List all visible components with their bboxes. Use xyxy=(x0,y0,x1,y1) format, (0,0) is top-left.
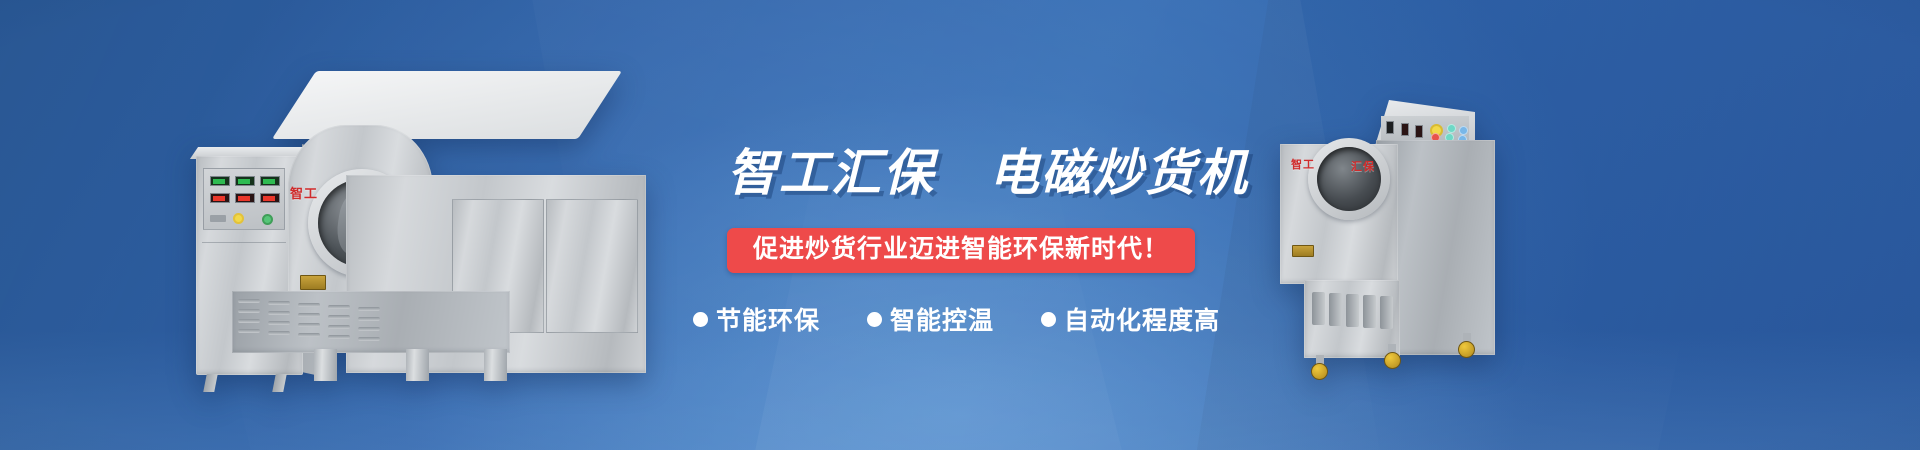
toggle-switch xyxy=(210,215,226,222)
right-display-1 xyxy=(1401,123,1409,136)
right-nameplate-badge xyxy=(1292,245,1314,257)
right-port-ring xyxy=(1308,138,1390,220)
right-control-panel xyxy=(1381,116,1469,142)
digital-display-6 xyxy=(260,193,280,203)
access-door-right xyxy=(546,199,638,333)
digital-display-5 xyxy=(235,193,255,203)
feature-label-1: 节能环保 xyxy=(716,301,820,337)
brand-mark-left-1: 智工 xyxy=(290,183,318,202)
product-image-left-machine: 许昌智工 智工 汇保 xyxy=(196,115,666,430)
right-caster-2 xyxy=(1384,352,1401,369)
digital-display-3 xyxy=(260,176,280,186)
bullet-dot-icon xyxy=(693,312,708,327)
right-caster-3 xyxy=(1458,341,1475,358)
right-main-switch xyxy=(1386,121,1394,134)
control-panel xyxy=(203,168,285,230)
feature-list: 节能环保 智能控温 自动化程度高 xyxy=(693,301,1247,337)
feature-label-3: 自动化程度高 xyxy=(1064,301,1220,337)
machine-plinth xyxy=(232,291,510,353)
cabinet-leg-left xyxy=(203,374,217,392)
brand-mark-right-2: 汇保 xyxy=(1351,158,1375,174)
right-machine-base xyxy=(1304,280,1400,358)
cabinet-seam xyxy=(202,242,286,243)
banner-copy: 智工汇保 电磁炒货机 促进炒货行业迈进智能环保新时代！ 节能环保 智能控温 自动… xyxy=(727,148,1247,337)
digital-display-4 xyxy=(210,193,230,203)
ventilation-grille xyxy=(238,299,388,347)
right-caster-1 xyxy=(1311,363,1328,380)
right-indicator-2 xyxy=(1459,126,1468,135)
machine-leg-1 xyxy=(314,349,337,381)
machine-leg-2 xyxy=(406,349,429,381)
right-drum-opening xyxy=(1317,147,1381,211)
right-display-2 xyxy=(1415,125,1423,138)
headline-brand: 智工汇保 xyxy=(727,145,935,201)
feature-item-3: 自动化程度高 xyxy=(1041,301,1220,337)
emergency-stop-knob xyxy=(233,213,244,224)
right-indicator-1 xyxy=(1447,124,1456,133)
promo-banner: 许昌智工 智工 汇保 xyxy=(0,0,1920,450)
banner-headline: 智工汇保 电磁炒货机 xyxy=(727,148,1247,198)
right-ventilation-grille xyxy=(1312,290,1394,348)
bullet-dot-icon xyxy=(1041,312,1056,327)
nameplate-badge xyxy=(300,275,326,290)
headline-product: 电磁炒货机 xyxy=(989,145,1249,201)
banner-slogan-ribbon: 促进炒货行业迈进智能环保新时代！ xyxy=(727,228,1195,273)
product-image-right-machine: 智工 汇保 xyxy=(1280,100,1495,425)
feature-label-2: 智能控温 xyxy=(890,301,994,337)
feature-item-2: 智能控温 xyxy=(867,301,994,337)
brand-mark-right-1: 智工 xyxy=(1291,156,1315,172)
bullet-dot-icon xyxy=(867,312,882,327)
machine-leg-3 xyxy=(484,349,507,381)
cabinet-leg-right xyxy=(272,374,286,392)
digital-display-1 xyxy=(210,176,230,186)
feature-item-1: 节能环保 xyxy=(693,301,820,337)
digital-display-2 xyxy=(235,176,255,186)
start-button xyxy=(262,214,273,225)
